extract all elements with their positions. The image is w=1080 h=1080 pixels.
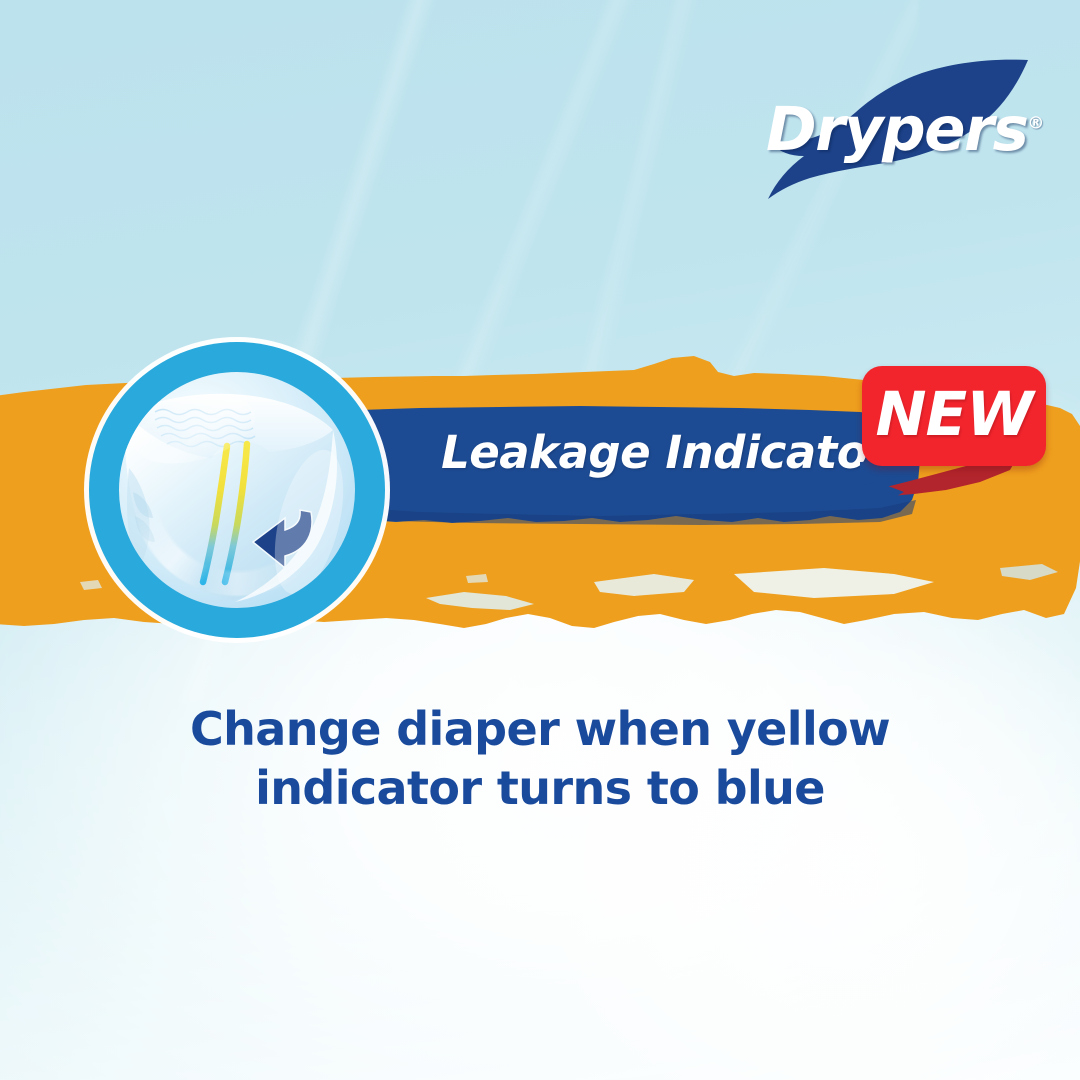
drypers-logo: Drypers®	[766, 52, 1028, 200]
caption-line-2: indicator turns to blue	[0, 759, 1080, 818]
registered-trademark-icon: ®	[1027, 114, 1044, 134]
circle-inner-scene	[119, 372, 355, 608]
new-badge: NEW	[862, 366, 1046, 466]
logo-wordmark: Drypers®	[766, 99, 1028, 160]
advertisement-canvas: Leakage Indicator NEW	[0, 0, 1080, 1080]
feature-banner-band: Leakage Indicator	[360, 404, 940, 526]
feature-label: Leakage Indicator	[430, 430, 900, 475]
leakage-indicator-illustration	[76, 322, 398, 658]
caption-line-1: Change diaper when yellow	[0, 700, 1080, 759]
logo-wordmark-text: Drypers	[766, 94, 1027, 165]
new-badge-label: NEW	[862, 366, 1046, 466]
caption: Change diaper when yellow indicator turn…	[0, 700, 1080, 818]
